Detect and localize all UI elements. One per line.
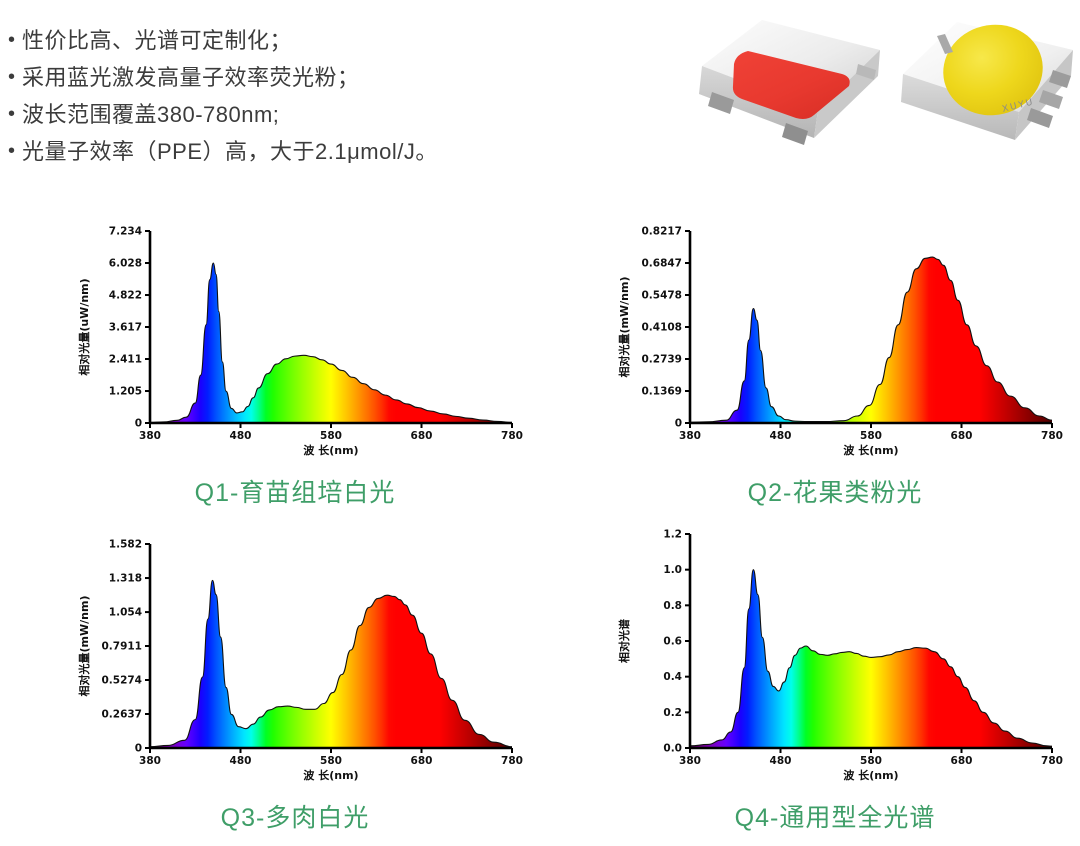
- x-axis-label: 波 长(nm): [303, 768, 358, 782]
- y-tick-label: 0.0: [663, 743, 682, 755]
- list-item: • 波长范围覆盖380-780nm;: [8, 96, 648, 133]
- y-tick-label: 0: [135, 418, 142, 430]
- x-tick-label: 580: [320, 430, 342, 442]
- bullet-dot-icon: •: [8, 22, 22, 59]
- white-smd-led-image: XUYU: [895, 8, 1080, 158]
- bullet-text: 光量子效率（PPE）高，大于2.1μmol/J。: [22, 133, 438, 170]
- spectrum-plot-svg: 0.00.20.40.60.81.01.2380480580680780波 长(…: [600, 518, 1070, 790]
- y-tick-label: 1.318: [109, 573, 142, 585]
- y-axis-label: 相对光量(uW/nm): [77, 278, 91, 375]
- x-tick-label: 680: [411, 755, 433, 767]
- y-tick-label: 0.8217: [641, 226, 682, 238]
- x-tick-label: 680: [951, 755, 973, 767]
- bullet-dot-icon: •: [8, 96, 22, 133]
- x-tick-label: 580: [320, 755, 342, 767]
- y-axis-label: 相对光量(mW/nm): [617, 277, 631, 378]
- y-tick-label: 0.2: [663, 707, 682, 719]
- y-tick-label: 7.234: [109, 226, 142, 238]
- y-tick-label: 0.5274: [101, 674, 142, 686]
- spectrum-area: [690, 257, 1052, 423]
- spectrum-area: [690, 570, 1052, 748]
- x-tick-label: 480: [770, 430, 792, 442]
- y-tick-label: 0: [675, 418, 682, 430]
- x-tick-label: 580: [860, 755, 882, 767]
- x-axis-label: 波 长(nm): [843, 768, 898, 782]
- x-tick-label: 480: [230, 430, 252, 442]
- y-tick-label: 0.2637: [101, 708, 142, 720]
- list-item: • 采用蓝光激发高量子效率荧光粉；: [8, 59, 648, 96]
- y-tick-label: 0.4: [663, 671, 682, 683]
- chart-caption-q1: Q1-育苗组培白光: [60, 473, 530, 509]
- chart-caption-q3: Q3-多肉白光: [60, 798, 530, 834]
- y-tick-label: 0.1369: [641, 386, 682, 398]
- bullet-text: 波长范围覆盖380-780nm;: [22, 96, 279, 133]
- y-tick-label: 0.8: [663, 600, 682, 612]
- y-tick-label: 1.0: [663, 564, 682, 576]
- x-axis-label: 波 长(nm): [843, 443, 898, 457]
- y-tick-label: 3.617: [109, 322, 142, 334]
- y-tick-label: 0.7911: [101, 640, 142, 652]
- x-axis-label: 波 长(nm): [303, 443, 358, 457]
- y-tick-label: 1.205: [109, 386, 142, 398]
- chart-plot-q2: 00.13690.27390.41080.54780.68470.8217380…: [600, 215, 1070, 465]
- red-smd-led-image: [690, 14, 890, 154]
- y-tick-label: 1.2: [663, 529, 682, 541]
- chart-caption-q2: Q2-花果类粉光: [600, 473, 1070, 509]
- y-tick-label: 0.6: [663, 636, 682, 648]
- spectrum-plot-svg: 00.26370.52740.79111.0541.3181.582380480…: [60, 528, 530, 790]
- chart-plot-q1: 01.2052.4113.6174.8226.0287.234380480580…: [60, 215, 530, 465]
- bullet-dot-icon: •: [8, 59, 22, 96]
- chart-card-q4: 0.00.20.40.60.81.01.2380480580680780波 长(…: [600, 518, 1070, 846]
- feature-bullet-list: • 性价比高、光谱可定制化； • 采用蓝光激发高量子效率荧光粉； • 波长范围覆…: [8, 22, 648, 170]
- chart-caption-q4: Q4-通用型全光谱: [600, 798, 1070, 834]
- spectrum-plot-svg: 01.2052.4113.6174.8226.0287.234380480580…: [60, 215, 530, 465]
- y-tick-label: 0.4108: [641, 322, 682, 334]
- chart-card-q2: 00.13690.27390.41080.54780.68470.8217380…: [600, 215, 1070, 515]
- x-tick-label: 380: [139, 755, 161, 767]
- bullet-text: 性价比高、光谱可定制化；: [22, 22, 292, 59]
- x-tick-label: 480: [230, 755, 252, 767]
- x-tick-label: 580: [860, 430, 882, 442]
- y-tick-label: 4.822: [109, 290, 142, 302]
- chart-plot-q3: 00.26370.52740.79111.0541.3181.582380480…: [60, 528, 530, 790]
- y-tick-label: 1.582: [109, 539, 142, 551]
- y-tick-label: 2.411: [109, 354, 142, 366]
- list-item: • 性价比高、光谱可定制化；: [8, 22, 648, 59]
- bullet-dot-icon: •: [8, 133, 22, 170]
- x-tick-label: 780: [1041, 755, 1063, 767]
- y-axis-label: 相对光量(mW/nm): [77, 596, 91, 697]
- x-tick-label: 380: [679, 755, 701, 767]
- chart-plot-q4: 0.00.20.40.60.81.01.2380480580680780波 长(…: [600, 518, 1070, 790]
- x-tick-label: 780: [501, 430, 523, 442]
- x-tick-label: 680: [951, 430, 973, 442]
- y-axis-label: 相对光谱: [617, 619, 631, 663]
- y-tick-label: 1.054: [109, 607, 142, 619]
- y-tick-label: 0.5478: [641, 290, 682, 302]
- y-tick-label: 0.6847: [641, 258, 682, 270]
- x-tick-label: 680: [411, 430, 433, 442]
- chart-card-q3: 00.26370.52740.79111.0541.3181.582380480…: [60, 528, 530, 846]
- product-photo-group: XUYU: [690, 6, 1080, 166]
- y-tick-label: 0.2739: [641, 354, 682, 366]
- y-tick-label: 6.028: [109, 258, 142, 270]
- bullet-text: 采用蓝光激发高量子效率荧光粉；: [22, 59, 360, 96]
- x-tick-label: 380: [679, 430, 701, 442]
- chart-card-q1: 01.2052.4113.6174.8226.0287.234380480580…: [60, 215, 530, 515]
- spectrum-plot-svg: 00.13690.27390.41080.54780.68470.8217380…: [600, 215, 1070, 465]
- x-tick-label: 480: [770, 755, 792, 767]
- y-tick-label: 0: [135, 743, 142, 755]
- x-tick-label: 380: [139, 430, 161, 442]
- x-tick-label: 780: [501, 755, 523, 767]
- x-tick-label: 780: [1041, 430, 1063, 442]
- list-item: • 光量子效率（PPE）高，大于2.1μmol/J。: [8, 133, 648, 170]
